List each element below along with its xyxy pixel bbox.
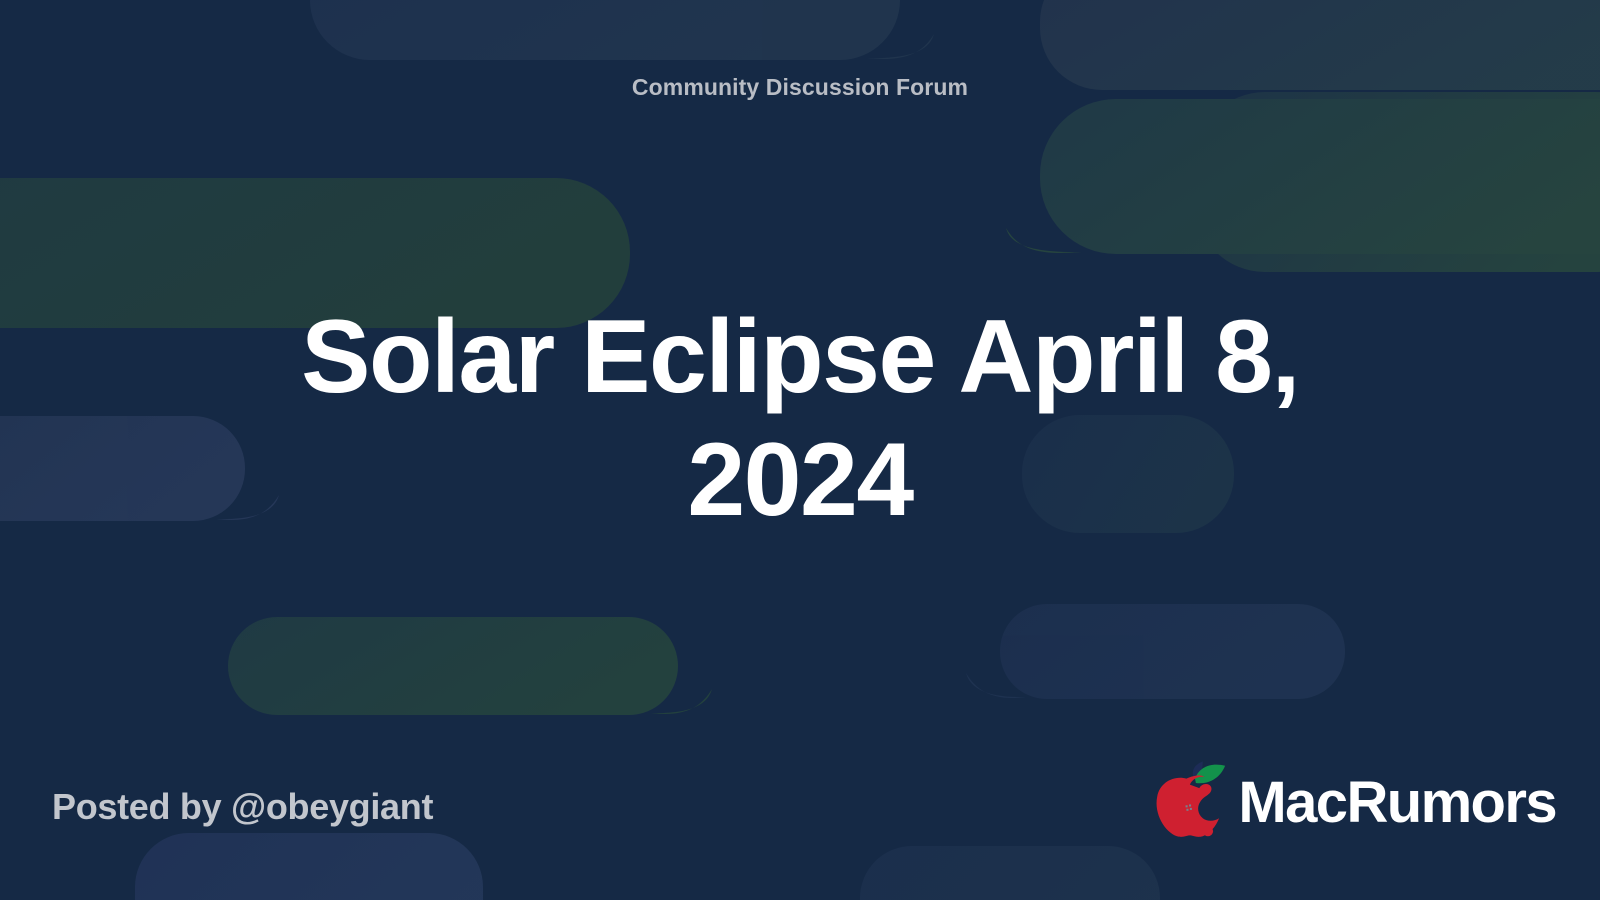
macrumors-apple-question-mark-icon: [1146, 758, 1232, 844]
forum-share-card: Community Discussion Forum Solar Eclipse…: [0, 0, 1600, 900]
page-title: Solar Eclipse April 8, 2024: [300, 296, 1300, 541]
macrumors-wordmark: MacRumors: [1238, 774, 1556, 832]
page-title-container: Solar Eclipse April 8, 2024: [0, 296, 1600, 541]
page-kicker: Community Discussion Forum: [632, 74, 968, 101]
macrumors-logo[interactable]: MacRumors: [1146, 758, 1556, 844]
post-author-byline: Posted by @obeygiant: [52, 786, 433, 828]
